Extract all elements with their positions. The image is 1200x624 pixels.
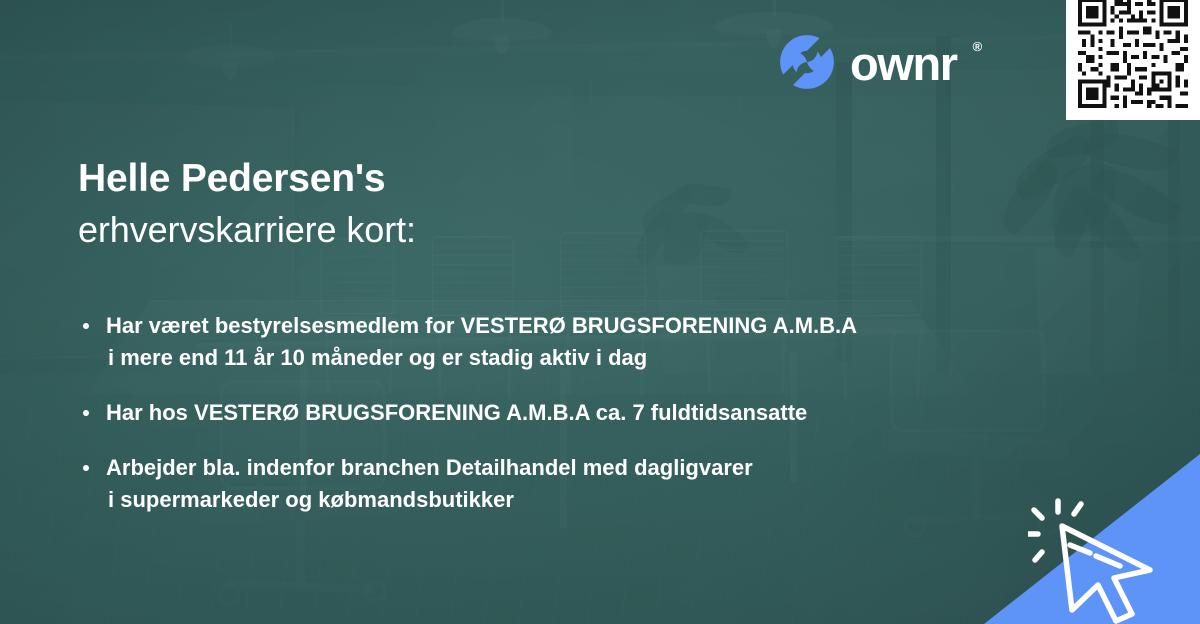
list-item: Arbejder bla. indenfor branchen Detailha… xyxy=(78,452,1038,516)
bullet-dot-icon xyxy=(83,323,89,329)
ownr-logo[interactable]: ownr ® xyxy=(779,34,981,90)
subtitle: erhvervskarriere kort: xyxy=(78,208,416,252)
qr-code[interactable] xyxy=(1066,0,1200,120)
list-item: Har hos VESTERØ BRUGSFORENING A.M.B.A ca… xyxy=(78,397,1038,429)
ownr-circle-swoosh-icon xyxy=(779,34,835,90)
list-item-line1: Arbejder bla. indenfor branchen Detailha… xyxy=(106,455,753,480)
list-item-line1: Har været bestyrelsesmedlem for VESTERØ … xyxy=(106,313,857,338)
bullet-dot-icon xyxy=(83,410,89,416)
career-card: ownr ® xyxy=(0,0,1200,624)
ownr-wordmark: ownr xyxy=(850,40,957,87)
list-item-line1: Har hos VESTERØ BRUGSFORENING A.M.B.A ca… xyxy=(106,400,807,425)
registered-trademark-icon: ® xyxy=(973,39,983,54)
page-title: Helle Pedersen's erhvervskarriere kort: xyxy=(78,156,416,252)
list-item: Har været bestyrelsesmedlem for VESTERØ … xyxy=(78,310,1038,374)
list-item-line2: i mere end 11 år 10 måneder og er stadig… xyxy=(106,342,1038,374)
career-highlights-list: Har været bestyrelsesmedlem for VESTERØ … xyxy=(78,310,1038,515)
person-name: Helle Pedersen's xyxy=(78,156,416,202)
card-content: ownr ® xyxy=(0,0,1200,624)
list-item-line2: i supermarkeder og købmandsbutikker xyxy=(106,484,1038,516)
corner-accent xyxy=(984,454,1200,624)
bullet-dot-icon xyxy=(83,465,89,471)
click-cursor-icon xyxy=(1028,498,1164,624)
